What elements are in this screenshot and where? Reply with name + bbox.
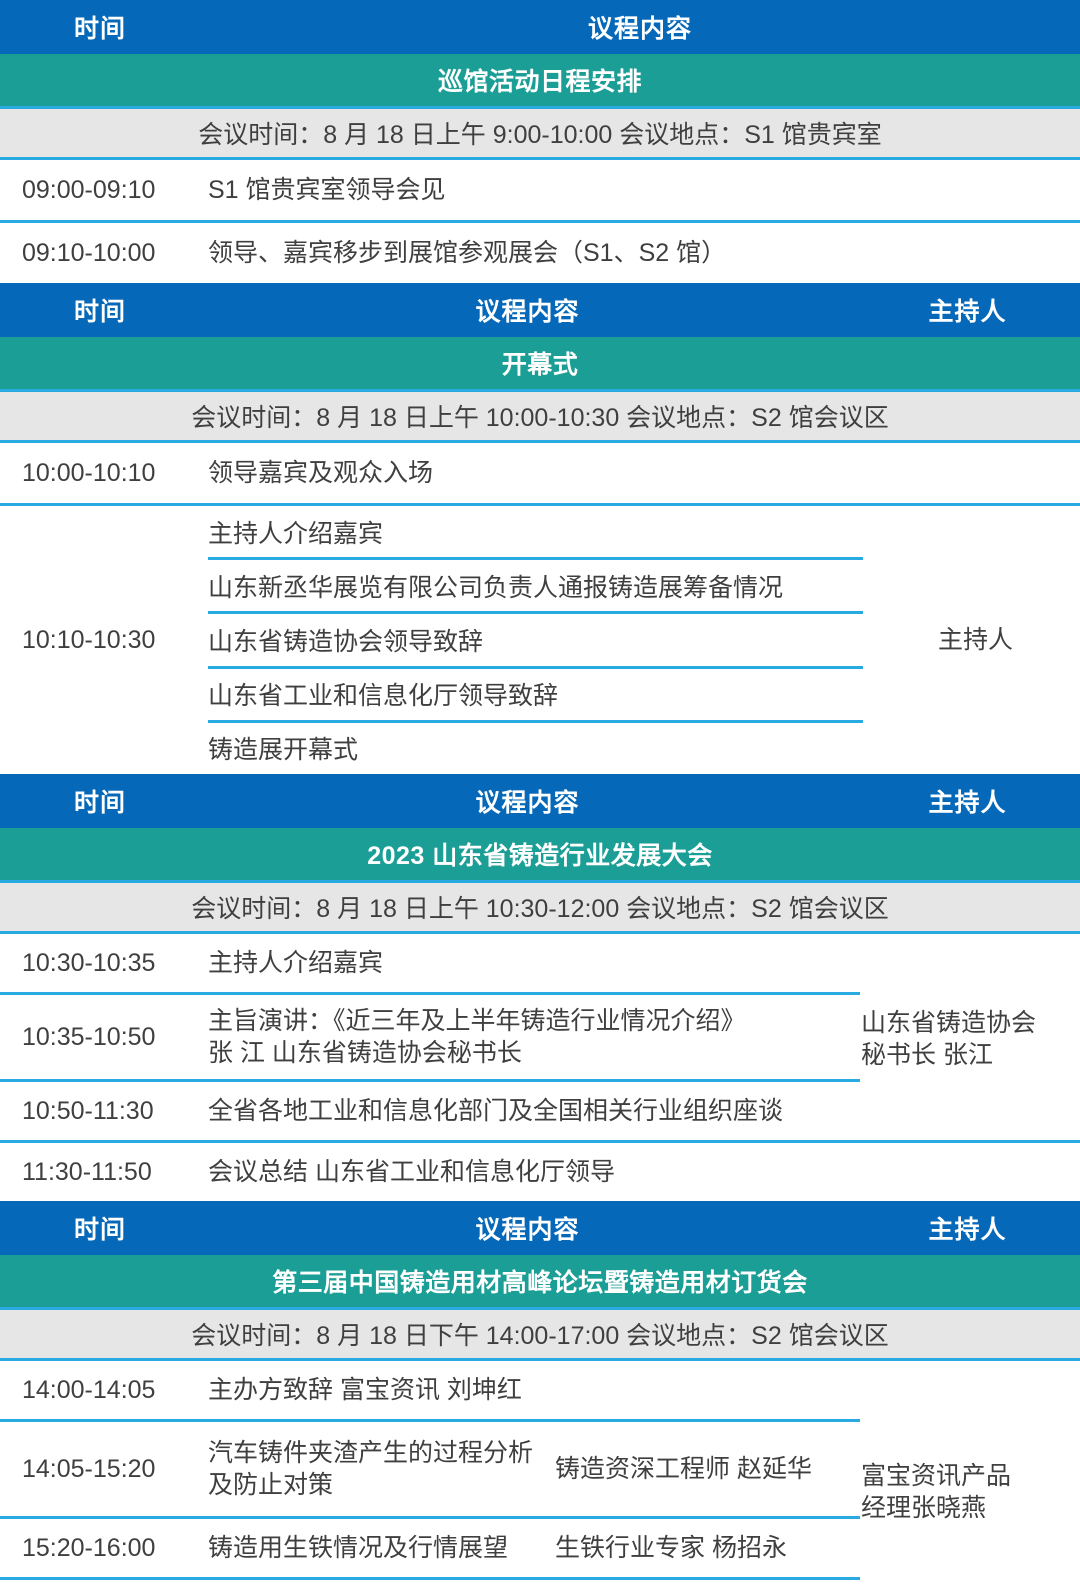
table-row: 14:00-14:05 主办方致辞 富宝资讯 刘坤红 xyxy=(0,1361,1080,1419)
row-time: 11:30-11:50 xyxy=(0,1156,200,1188)
row-agenda: 主持人介绍嘉宾 xyxy=(200,947,855,979)
column-header-time: 时间 xyxy=(0,1210,200,1246)
column-header-agenda: 议程内容 xyxy=(200,9,1080,45)
section-meta-dev-conference: 会议时间：8 月 18 日上午 10:30-12:00 会议地点：S2 馆会议区 xyxy=(0,880,1080,934)
section-header-tour: 时间 议程内容 xyxy=(0,0,1080,54)
meeting-time-location: 会议时间：8 月 18 日上午 9:00-10:00 会议地点：S1 馆贵宾室 xyxy=(198,115,882,151)
section-materials-forum: 时间 议程内容 主持人 第三届中国铸造用材高峰论坛暨铸造用材订货会 会议时间：8… xyxy=(0,1201,1080,1590)
materials-forum-body: 14:00-14:05 主办方致辞 富宝资讯 刘坤红 14:05-15:20 汽… xyxy=(0,1361,1080,1590)
section-title-materials-forum: 第三届中国铸造用材高峰论坛暨铸造用材订货会 xyxy=(0,1255,1080,1307)
column-header-agenda: 议程内容 xyxy=(200,1210,855,1246)
row-time: 15:20-16:00 xyxy=(0,1532,200,1564)
list-item: 山东省铸造协会领导致辞 xyxy=(200,614,863,665)
row-time: 09:00-09:10 xyxy=(0,174,200,206)
table-row: 09:10-10:00 领导、嘉宾移步到展馆参观展会（S1、S2 馆） xyxy=(0,223,1080,283)
row-time: 10:00-10:10 xyxy=(0,457,200,489)
row-time: 14:00-14:05 xyxy=(0,1374,200,1406)
column-header-time: 时间 xyxy=(0,292,200,328)
section-meta-tour: 会议时间：8 月 18 日上午 9:00-10:00 会议地点：S1 馆贵宾室 xyxy=(0,106,1080,160)
row-time: 09:10-10:00 xyxy=(0,237,200,269)
table-row: 09:00-09:10 S1 馆贵宾室领导会见 xyxy=(0,160,1080,220)
row-speaker: 铸造资深工程师 赵延华 xyxy=(555,1453,855,1485)
row-agenda: 主办方致辞 富宝资讯 刘坤红 xyxy=(200,1374,855,1406)
section-title-tour: 巡馆活动日程安排 xyxy=(0,54,1080,106)
section-meta-opening: 会议时间：8 月 18 日上午 10:00-10:30 会议地点：S2 馆会议区 xyxy=(0,389,1080,443)
section-opening: 时间 议程内容 主持人 开幕式 会议时间：8 月 18 日上午 10:00-10… xyxy=(0,283,1080,774)
section-header-materials-forum: 时间 议程内容 主持人 xyxy=(0,1201,1080,1255)
row-time: 10:35-10:50 xyxy=(0,1021,200,1053)
list-item: 山东新丞华展览有限公司负责人通报铸造展筹备情况 xyxy=(200,560,863,611)
group-host: 主持人 xyxy=(863,506,1080,774)
meeting-time-location: 会议时间：8 月 18 日下午 14:00-17:00 会议地点：S2 馆会议区 xyxy=(191,1316,888,1352)
row-agenda: 领导嘉宾及观众入场 xyxy=(200,457,855,489)
column-header-host: 主持人 xyxy=(855,292,1080,328)
section-title-label: 2023 山东省铸造行业发展大会 xyxy=(367,836,713,872)
group-host-dev-conference: 山东省铸造协会 秘书长 张江 xyxy=(855,974,1080,1104)
section-title-opening: 开幕式 xyxy=(0,337,1080,389)
table-row: 11:30-11:50 会议总结 山东省工业和信息化厅领导 xyxy=(0,1143,1080,1201)
section-header-opening: 时间 议程内容 主持人 xyxy=(0,283,1080,337)
meeting-time-location: 会议时间：8 月 18 日上午 10:30-12:00 会议地点：S2 馆会议区 xyxy=(191,889,888,925)
section-title-label: 巡馆活动日程安排 xyxy=(438,62,642,98)
section-title-label: 第三届中国铸造用材高峰论坛暨铸造用材订货会 xyxy=(272,1263,808,1299)
column-header-agenda: 议程内容 xyxy=(200,783,855,819)
row-agenda: 会议总结 山东省工业和信息化厅领导 xyxy=(200,1156,855,1188)
table-row: 16:00-17:00 铸造厂与材料商对接，优质供应商推荐 xyxy=(0,1580,1080,1590)
column-header-time: 时间 xyxy=(0,9,200,45)
agenda-table-page: 时间 议程内容 巡馆活动日程安排 会议时间：8 月 18 日上午 9:00-10… xyxy=(0,0,1080,1590)
row-agenda: 全省各地工业和信息化部门及全国相关行业组织座谈 xyxy=(200,1095,855,1127)
section-title-label: 开幕式 xyxy=(502,345,579,381)
section-meta-materials-forum: 会议时间：8 月 18 日下午 14:00-17:00 会议地点：S2 馆会议区 xyxy=(0,1307,1080,1361)
column-header-host: 主持人 xyxy=(855,783,1080,819)
meeting-time-location: 会议时间：8 月 18 日上午 10:00-10:30 会议地点：S2 馆会议区 xyxy=(191,398,888,434)
row-agenda: 汽车铸件夹渣产生的过程分析 及防止对策 xyxy=(200,1437,555,1501)
list-item: 铸造展开幕式 xyxy=(200,723,863,774)
group-time: 10:10-10:30 xyxy=(0,506,200,774)
row-time: 10:30-10:35 xyxy=(0,947,200,979)
list-item: 山东省工业和信息化厅领导致辞 xyxy=(200,669,863,720)
table-row-group-opening: 10:10-10:30 主持人介绍嘉宾 山东新丞华展览有限公司负责人通报铸造展筹… xyxy=(0,506,1080,774)
group-agenda-list: 主持人介绍嘉宾 山东新丞华展览有限公司负责人通报铸造展筹备情况 山东省铸造协会领… xyxy=(200,506,863,774)
column-header-host: 主持人 xyxy=(855,1210,1080,1246)
row-agenda: 主旨演讲：《近三年及上半年铸造行业情况介绍》 张 江 山东省铸造协会秘书长 xyxy=(200,1005,855,1069)
column-header-time: 时间 xyxy=(0,783,200,819)
section-dev-conference: 时间 议程内容 主持人 2023 山东省铸造行业发展大会 会议时间：8 月 18… xyxy=(0,774,1080,1201)
row-speaker: 生铁行业专家 杨招永 xyxy=(555,1532,855,1564)
row-time: 14:05-15:20 xyxy=(0,1453,200,1485)
row-agenda: 铸造用生铁情况及行情展望 xyxy=(200,1532,555,1564)
column-header-agenda: 议程内容 xyxy=(200,292,855,328)
row-agenda-text: 汽车铸件夹渣产生的过程分析 及防止对策 xyxy=(208,1439,533,1499)
group-host-materials-forum: 富宝资讯产品 经理张晓燕 xyxy=(855,1433,1080,1551)
section-header-dev-conference: 时间 议程内容 主持人 xyxy=(0,774,1080,828)
dev-conference-body: 10:30-10:35 主持人介绍嘉宾 10:35-10:50 主旨演讲：《近三… xyxy=(0,934,1080,1201)
list-item: 主持人介绍嘉宾 xyxy=(200,506,863,557)
section-tour: 时间 议程内容 巡馆活动日程安排 会议时间：8 月 18 日上午 9:00-10… xyxy=(0,0,1080,283)
section-title-dev-conference: 2023 山东省铸造行业发展大会 xyxy=(0,828,1080,880)
row-agenda: S1 馆贵宾室领导会见 xyxy=(200,174,1080,206)
row-time: 10:50-11:30 xyxy=(0,1095,200,1127)
row-agenda: 领导、嘉宾移步到展馆参观展会（S1、S2 馆） xyxy=(200,237,1080,269)
table-row: 10:00-10:10 领导嘉宾及观众入场 xyxy=(0,443,1080,503)
